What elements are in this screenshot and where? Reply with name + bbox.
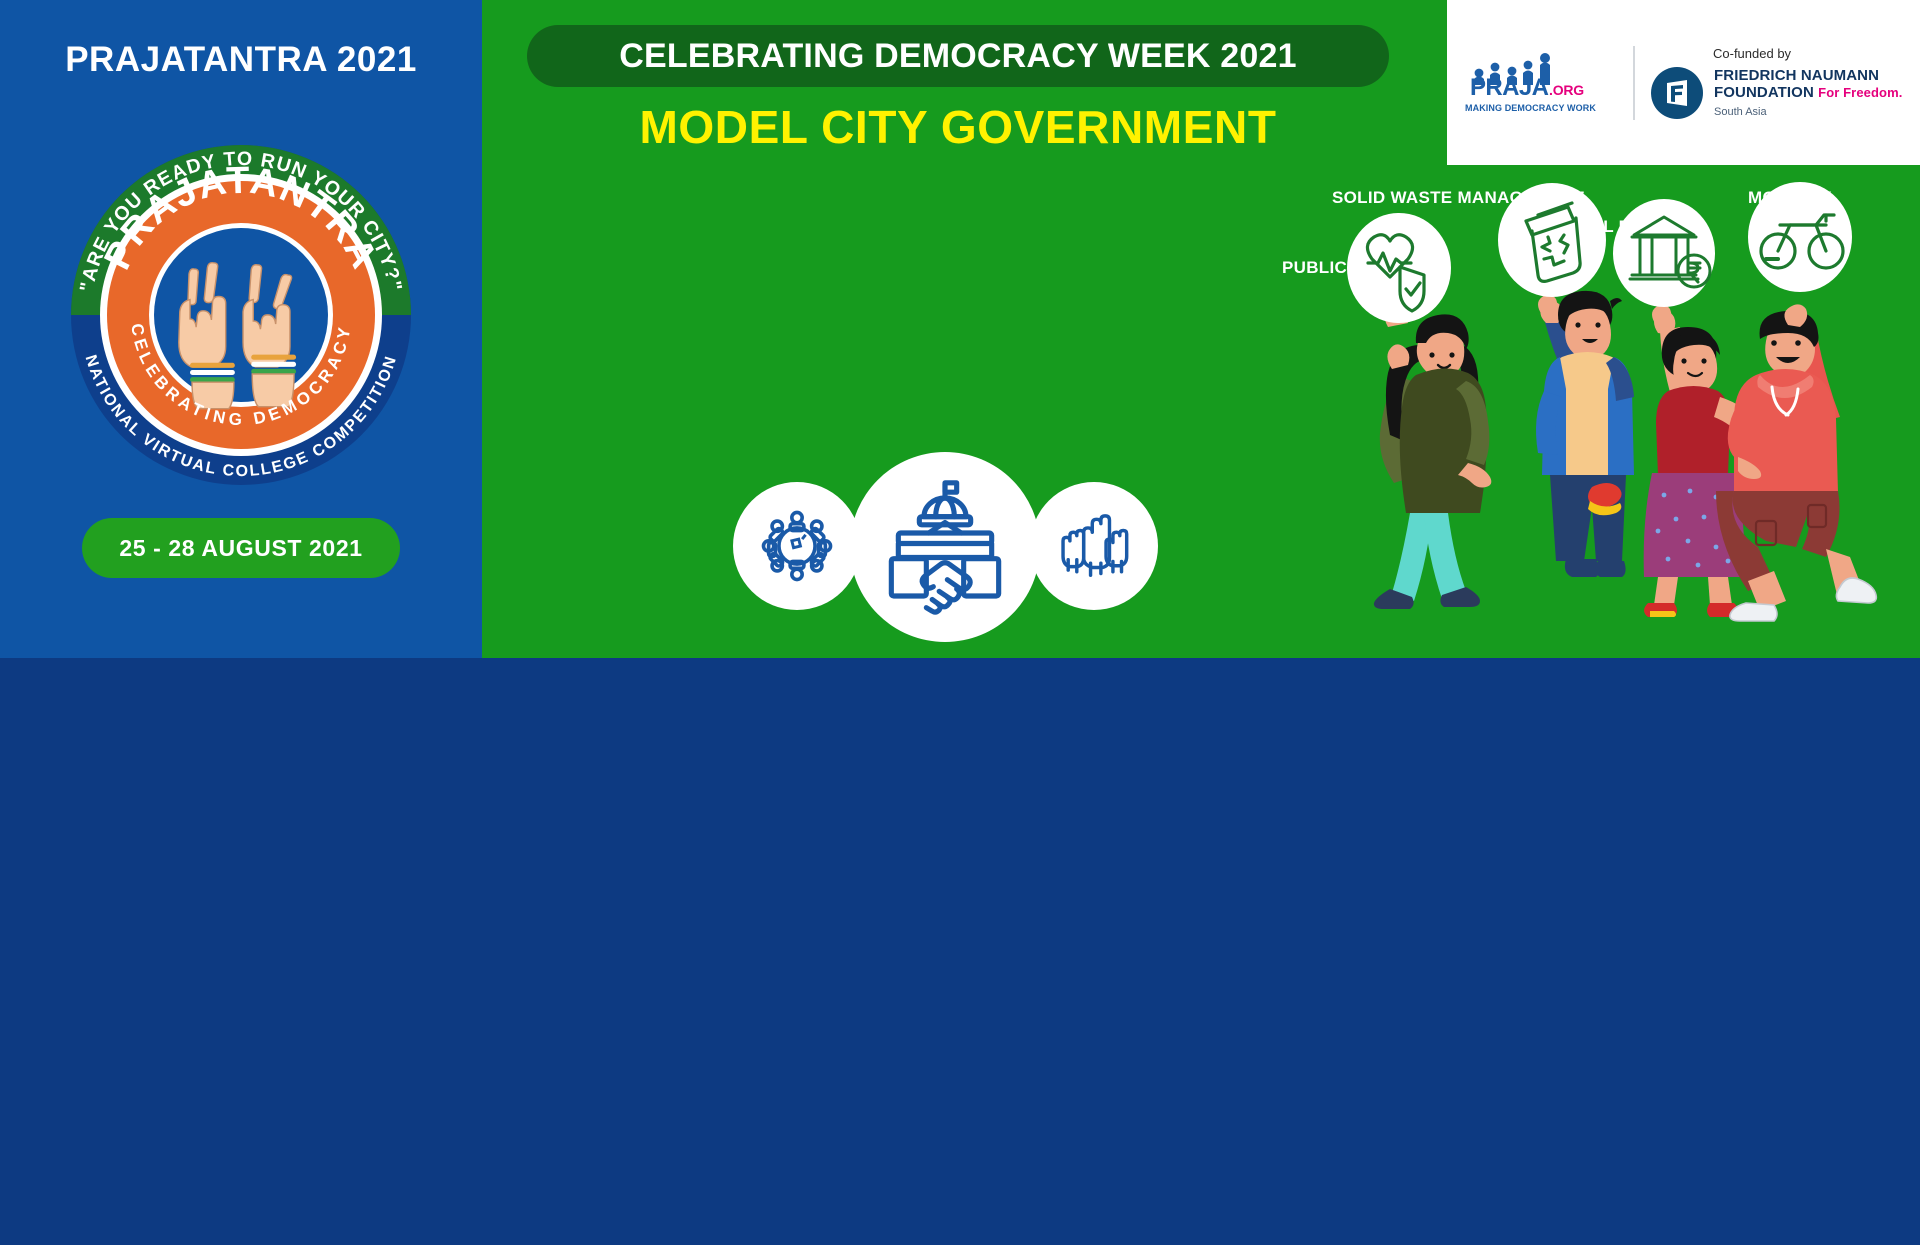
sponsor-logo-box: PRAJA .ORG MAKING DEMOCRACY WORK Co-fund…: [1447, 0, 1920, 165]
praja-tagline: MAKING DEMOCRACY WORK: [1465, 103, 1617, 113]
fnf-mark-icon: [1651, 67, 1703, 119]
prajatantra-badge: "ARE YOU READY TO RUN YOUR CITY?" NATION…: [56, 110, 426, 510]
bottom-navy-panel: [0, 658, 1920, 1245]
svg-text:PRAJA: PRAJA: [1470, 74, 1549, 101]
prajatantra-badge-svg: "ARE YOU READY TO RUN YOUR CITY?" NATION…: [56, 110, 426, 510]
people-illustration: [1260, 175, 1920, 658]
fnf-slogan: For Freedom.: [1818, 85, 1902, 100]
praja-logo: PRAJA .ORG MAKING DEMOCRACY WORK: [1465, 53, 1617, 113]
fnf-name-line1: FRIEDRICH NAUMANN: [1714, 68, 1902, 85]
fnf-f-glyph: [1660, 76, 1694, 110]
svg-text:.ORG: .ORG: [1549, 82, 1584, 98]
left-blue-panel: PRAJATANTRA 2021: [0, 0, 482, 658]
page-title: PRAJATANTRA 2021: [0, 40, 482, 80]
government-building-handshake-icon: [850, 452, 1040, 642]
fnf-region: South Asia: [1714, 106, 1902, 118]
event-dates-badge: 25 - 28 AUGUST 2021: [82, 518, 400, 578]
event-dates-label: 25 - 28 AUGUST 2021: [119, 535, 362, 562]
center-icon-group: [733, 452, 1176, 642]
fnf-logo: Co-funded by FRIEDRICH NAUMANN FOUNDATIO…: [1651, 46, 1902, 119]
celebrating-democracy-week-badge: CELEBRATING DEMOCRACY WEEK 2021: [527, 25, 1389, 87]
round-table-meeting-icon: [733, 482, 861, 610]
person-public-health: [1347, 213, 1491, 609]
raised-hands-voting-icon: [1030, 482, 1158, 610]
people-illustration-svg: [1260, 175, 1920, 658]
logo-divider: [1633, 46, 1635, 120]
praja-wordmark-svg: PRAJA .ORG: [1465, 53, 1617, 101]
fnf-name-line2: FOUNDATION: [1714, 84, 1814, 101]
poster-canvas: PRAJATANTRA 2021: [0, 0, 1920, 1245]
bank-rupee-coin-icon: [1613, 199, 1715, 307]
person-mobility: [1716, 182, 1876, 621]
cofunded-label: Co-funded by: [1713, 46, 1902, 61]
week-pill-label: CELEBRATING DEMOCRACY WEEK 2021: [619, 37, 1296, 76]
person-solid-waste: [1498, 183, 1634, 577]
program-title: MODEL CITY GOVERNMENT: [527, 100, 1389, 154]
